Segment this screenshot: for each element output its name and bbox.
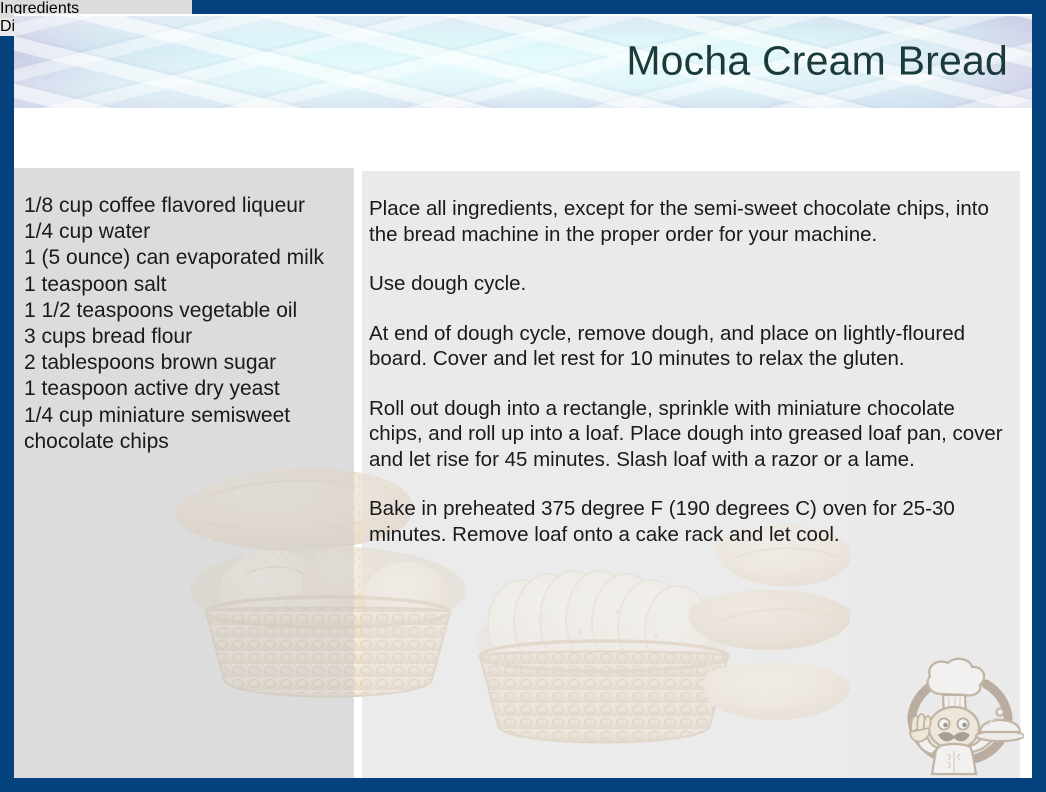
title-banner: Mocha Cream Bread bbox=[14, 16, 1032, 108]
ingredients-list: 1/8 cup coffee flavored liqueur1/4 cup w… bbox=[24, 193, 344, 455]
direction-step: Bake in preheated 375 degree F (190 degr… bbox=[369, 496, 1009, 547]
direction-step: Use dough cycle. bbox=[369, 271, 1009, 297]
ingredient-line: 1 (5 ounce) can evaporated milk bbox=[24, 245, 344, 271]
directions-steps: Place all ingredients, except for the se… bbox=[369, 196, 1009, 547]
ingredient-line: 3 cups bread flour bbox=[24, 324, 344, 350]
ingredient-line: 1/4 cup miniature semisweet bbox=[24, 403, 344, 429]
ingredient-line: 1 1/2 teaspoons vegetable oil bbox=[24, 298, 344, 324]
ingredient-line: 2 tablespoons brown sugar bbox=[24, 350, 344, 376]
ingredient-line: chocolate chips bbox=[24, 429, 344, 455]
direction-step: Roll out dough into a rectangle, sprinkl… bbox=[369, 396, 1009, 473]
direction-step: Place all ingredients, except for the se… bbox=[369, 196, 1009, 247]
ingredient-line: 1/8 cup coffee flavored liqueur bbox=[24, 193, 344, 219]
recipe-card: Mocha Cream Bread Ingredients Directions bbox=[0, 0, 1046, 792]
ingredient-line: 1/4 cup water bbox=[24, 219, 344, 245]
direction-step: At end of dough cycle, remove dough, and… bbox=[369, 321, 1009, 372]
ingredient-line: 1 teaspoon active dry yeast bbox=[24, 376, 344, 402]
recipe-title: Mocha Cream Bread bbox=[626, 38, 1008, 85]
ingredient-line: 1 teaspoon salt bbox=[24, 272, 344, 298]
